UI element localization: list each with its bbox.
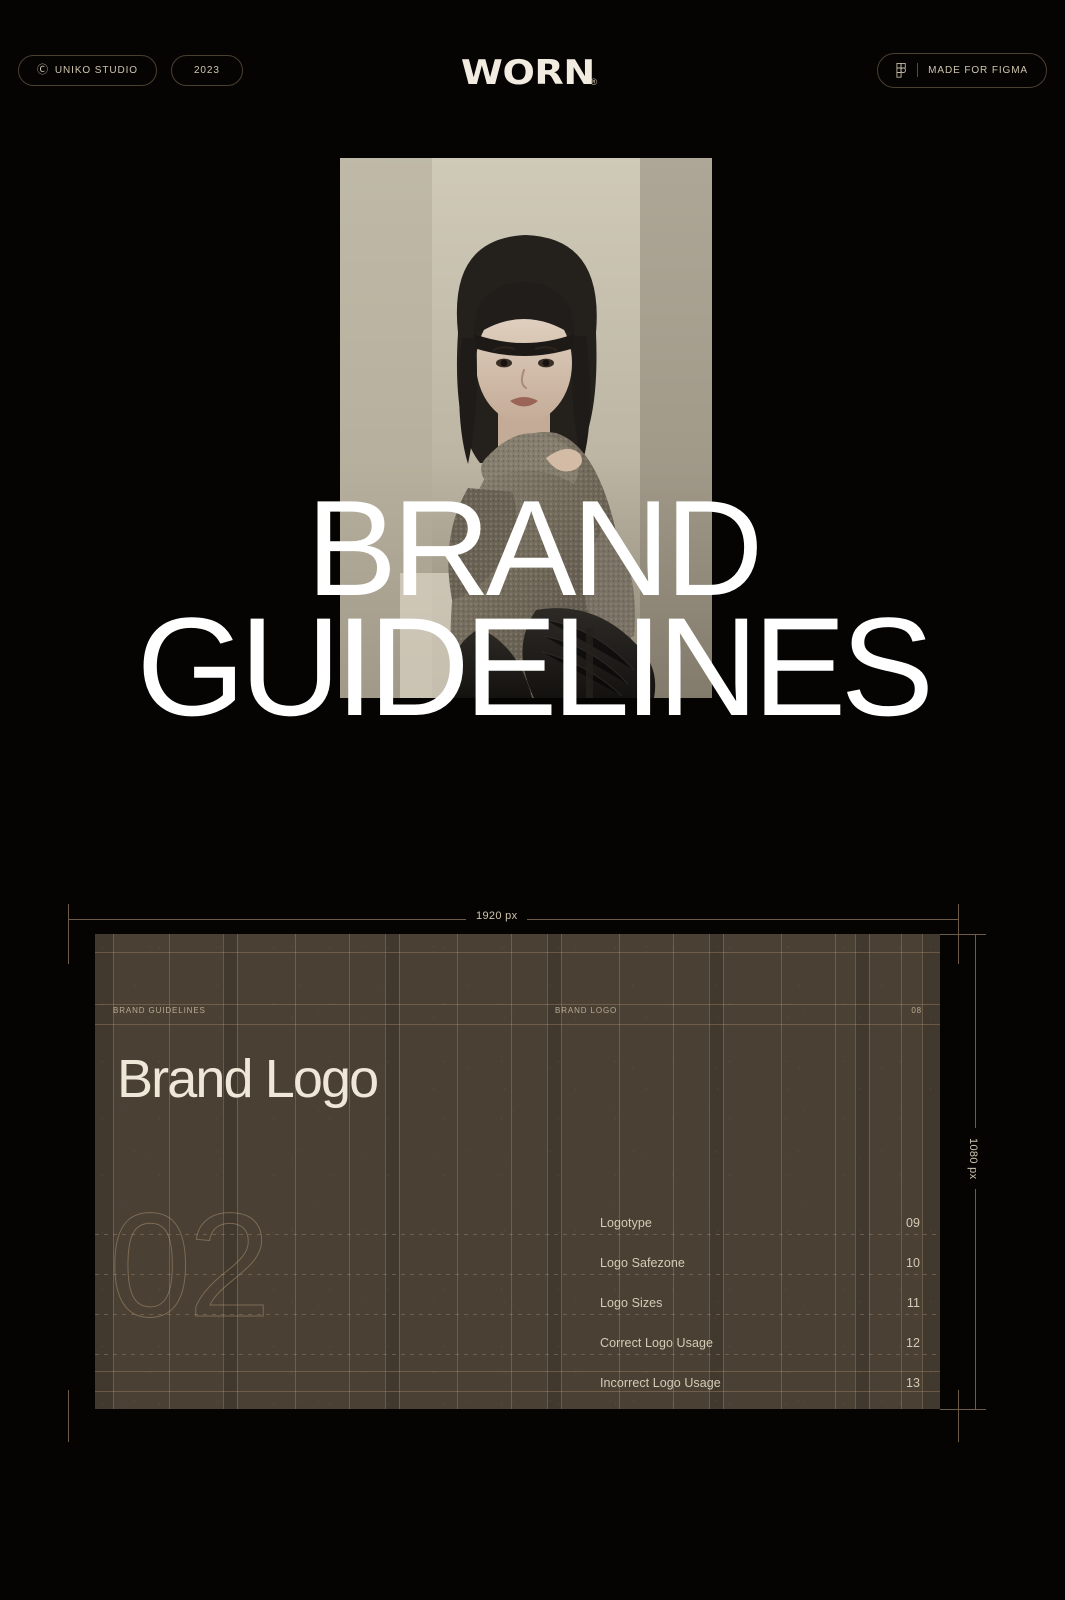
toc-item-label: Logo Safezone <box>600 1256 685 1270</box>
toc-item[interactable]: Correct Logo Usage 12 <box>600 1336 920 1376</box>
toc-item-label: Logotype <box>600 1216 652 1230</box>
slide-heading: Brand Logo <box>117 1052 377 1106</box>
toc-item-label: Correct Logo Usage <box>600 1336 713 1350</box>
measure-tick-left-bottom <box>68 1390 69 1442</box>
worn-logo-text: WORN <box>461 56 595 90</box>
slide-header: BRAND GUIDELINES BRAND LOGO 08 <box>95 1006 940 1024</box>
toc-item-page: 11 <box>907 1296 920 1310</box>
slide-header-center: BRAND LOGO <box>555 1006 617 1015</box>
table-of-contents: Logotype 09 Logo Safezone 10 Logo Sizes … <box>600 1216 920 1409</box>
toc-item[interactable]: Logo Safezone 10 <box>600 1256 920 1296</box>
measure-label-height: 1080 px <box>967 1128 979 1189</box>
slide-header-page: 08 <box>911 1006 922 1015</box>
page-title: BRAND GUIDELINES <box>0 490 1065 727</box>
toc-item-page: 09 <box>906 1216 920 1230</box>
measure-tick-top-right <box>940 934 986 935</box>
toc-item-label: Logo Sizes <box>600 1296 662 1310</box>
toc-item-page: 12 <box>906 1336 920 1350</box>
hero-section: BRAND GUIDELINES <box>0 140 1065 900</box>
slide-canvas[interactable]: 02 BRAND GUIDELINES BRAND LOGO 08 Brand … <box>95 934 940 1409</box>
measure-tick-right-bottom <box>958 1390 959 1442</box>
measure-tick-bottom-right <box>940 1409 986 1410</box>
toc-item-label: Incorrect Logo Usage <box>600 1376 721 1390</box>
toc-item-page: 10 <box>906 1256 920 1270</box>
brand-guidelines-page: Ⓒ UNIKO STUDIO 2023 MADE FOR FIGMA <box>0 0 1065 1600</box>
row-guide <box>95 952 940 953</box>
toc-item[interactable]: Logotype 09 <box>600 1216 920 1256</box>
measure-tick-left <box>68 904 69 964</box>
slide-header-left: BRAND GUIDELINES <box>113 1006 206 1015</box>
section-number-watermark: 02 <box>109 1192 268 1340</box>
hero-title-line2: GUIDELINES <box>0 607 1065 727</box>
row-guide <box>95 1004 940 1005</box>
toc-item[interactable]: Logo Sizes 11 <box>600 1296 920 1336</box>
toc-item[interactable]: Incorrect Logo Usage 13 <box>600 1376 920 1409</box>
slide-preview-area: 1920 px 1080 px <box>0 890 1065 1450</box>
worn-logo: WORN ® <box>0 56 1065 90</box>
row-guide <box>95 1024 940 1025</box>
toc-item-page: 13 <box>906 1376 920 1390</box>
measure-label-width: 1920 px <box>466 910 527 922</box>
